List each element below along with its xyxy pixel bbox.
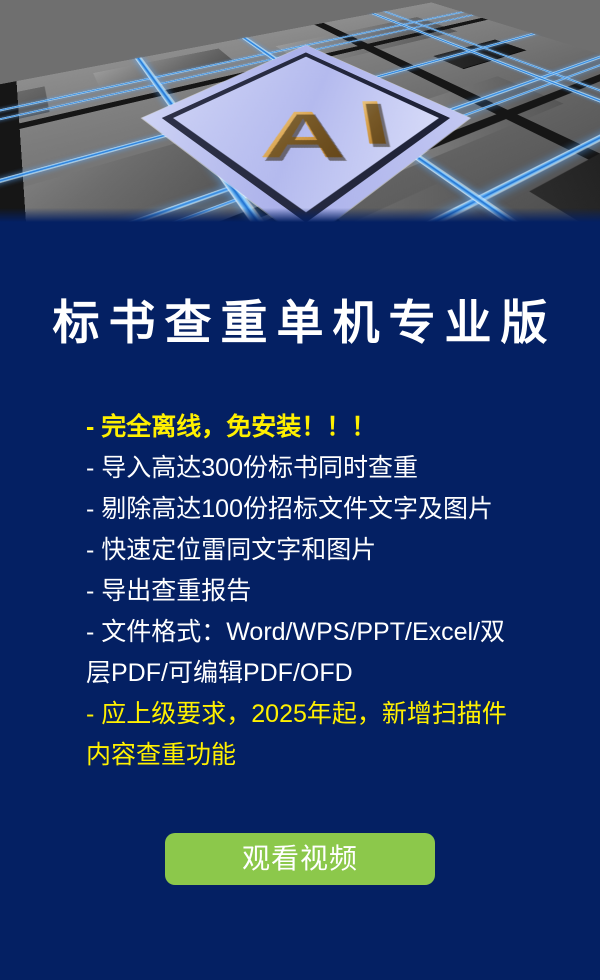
promo-poster: A I 标书查重单机专业版 - 完全离线，免安装！！！ - 导入高达300份标书… — [0, 0, 600, 980]
feature-list: - 完全离线，免安装！！！ - 导入高达300份标书同时查重 - 剔除高达100… — [86, 407, 510, 776]
feature-item-offline: - 完全离线，免安装！！！ — [86, 407, 510, 448]
hero-bottom-fade — [0, 208, 600, 222]
content-panel: 标书查重单机专业版 - 完全离线，免安装！！！ - 导入高达300份标书同时查重… — [0, 222, 600, 980]
feature-item-locate-duplicates: - 快速定位雷同文字和图片 — [86, 530, 510, 571]
feature-item-export-report: - 导出查重报告 — [86, 571, 510, 612]
feature-item-exclude-files: - 剔除高达100份招标文件文字及图片 — [86, 489, 510, 530]
feature-item-file-formats: - 文件格式：Word/WPS/PPT/Excel/双层PDF/可编辑PDF/O… — [86, 612, 510, 694]
cta-row: 观看视频 — [0, 833, 600, 885]
hero-image-ai-chip: A I — [0, 0, 600, 222]
watch-video-button[interactable]: 观看视频 — [165, 833, 435, 885]
feature-item-scan-check-2025: - 应上级要求，2025年起，新增扫描件内容查重功能 — [86, 694, 510, 776]
feature-item-import-capacity: - 导入高达300份标书同时查重 — [86, 448, 510, 489]
page-title: 标书查重单机专业版 — [0, 284, 600, 353]
